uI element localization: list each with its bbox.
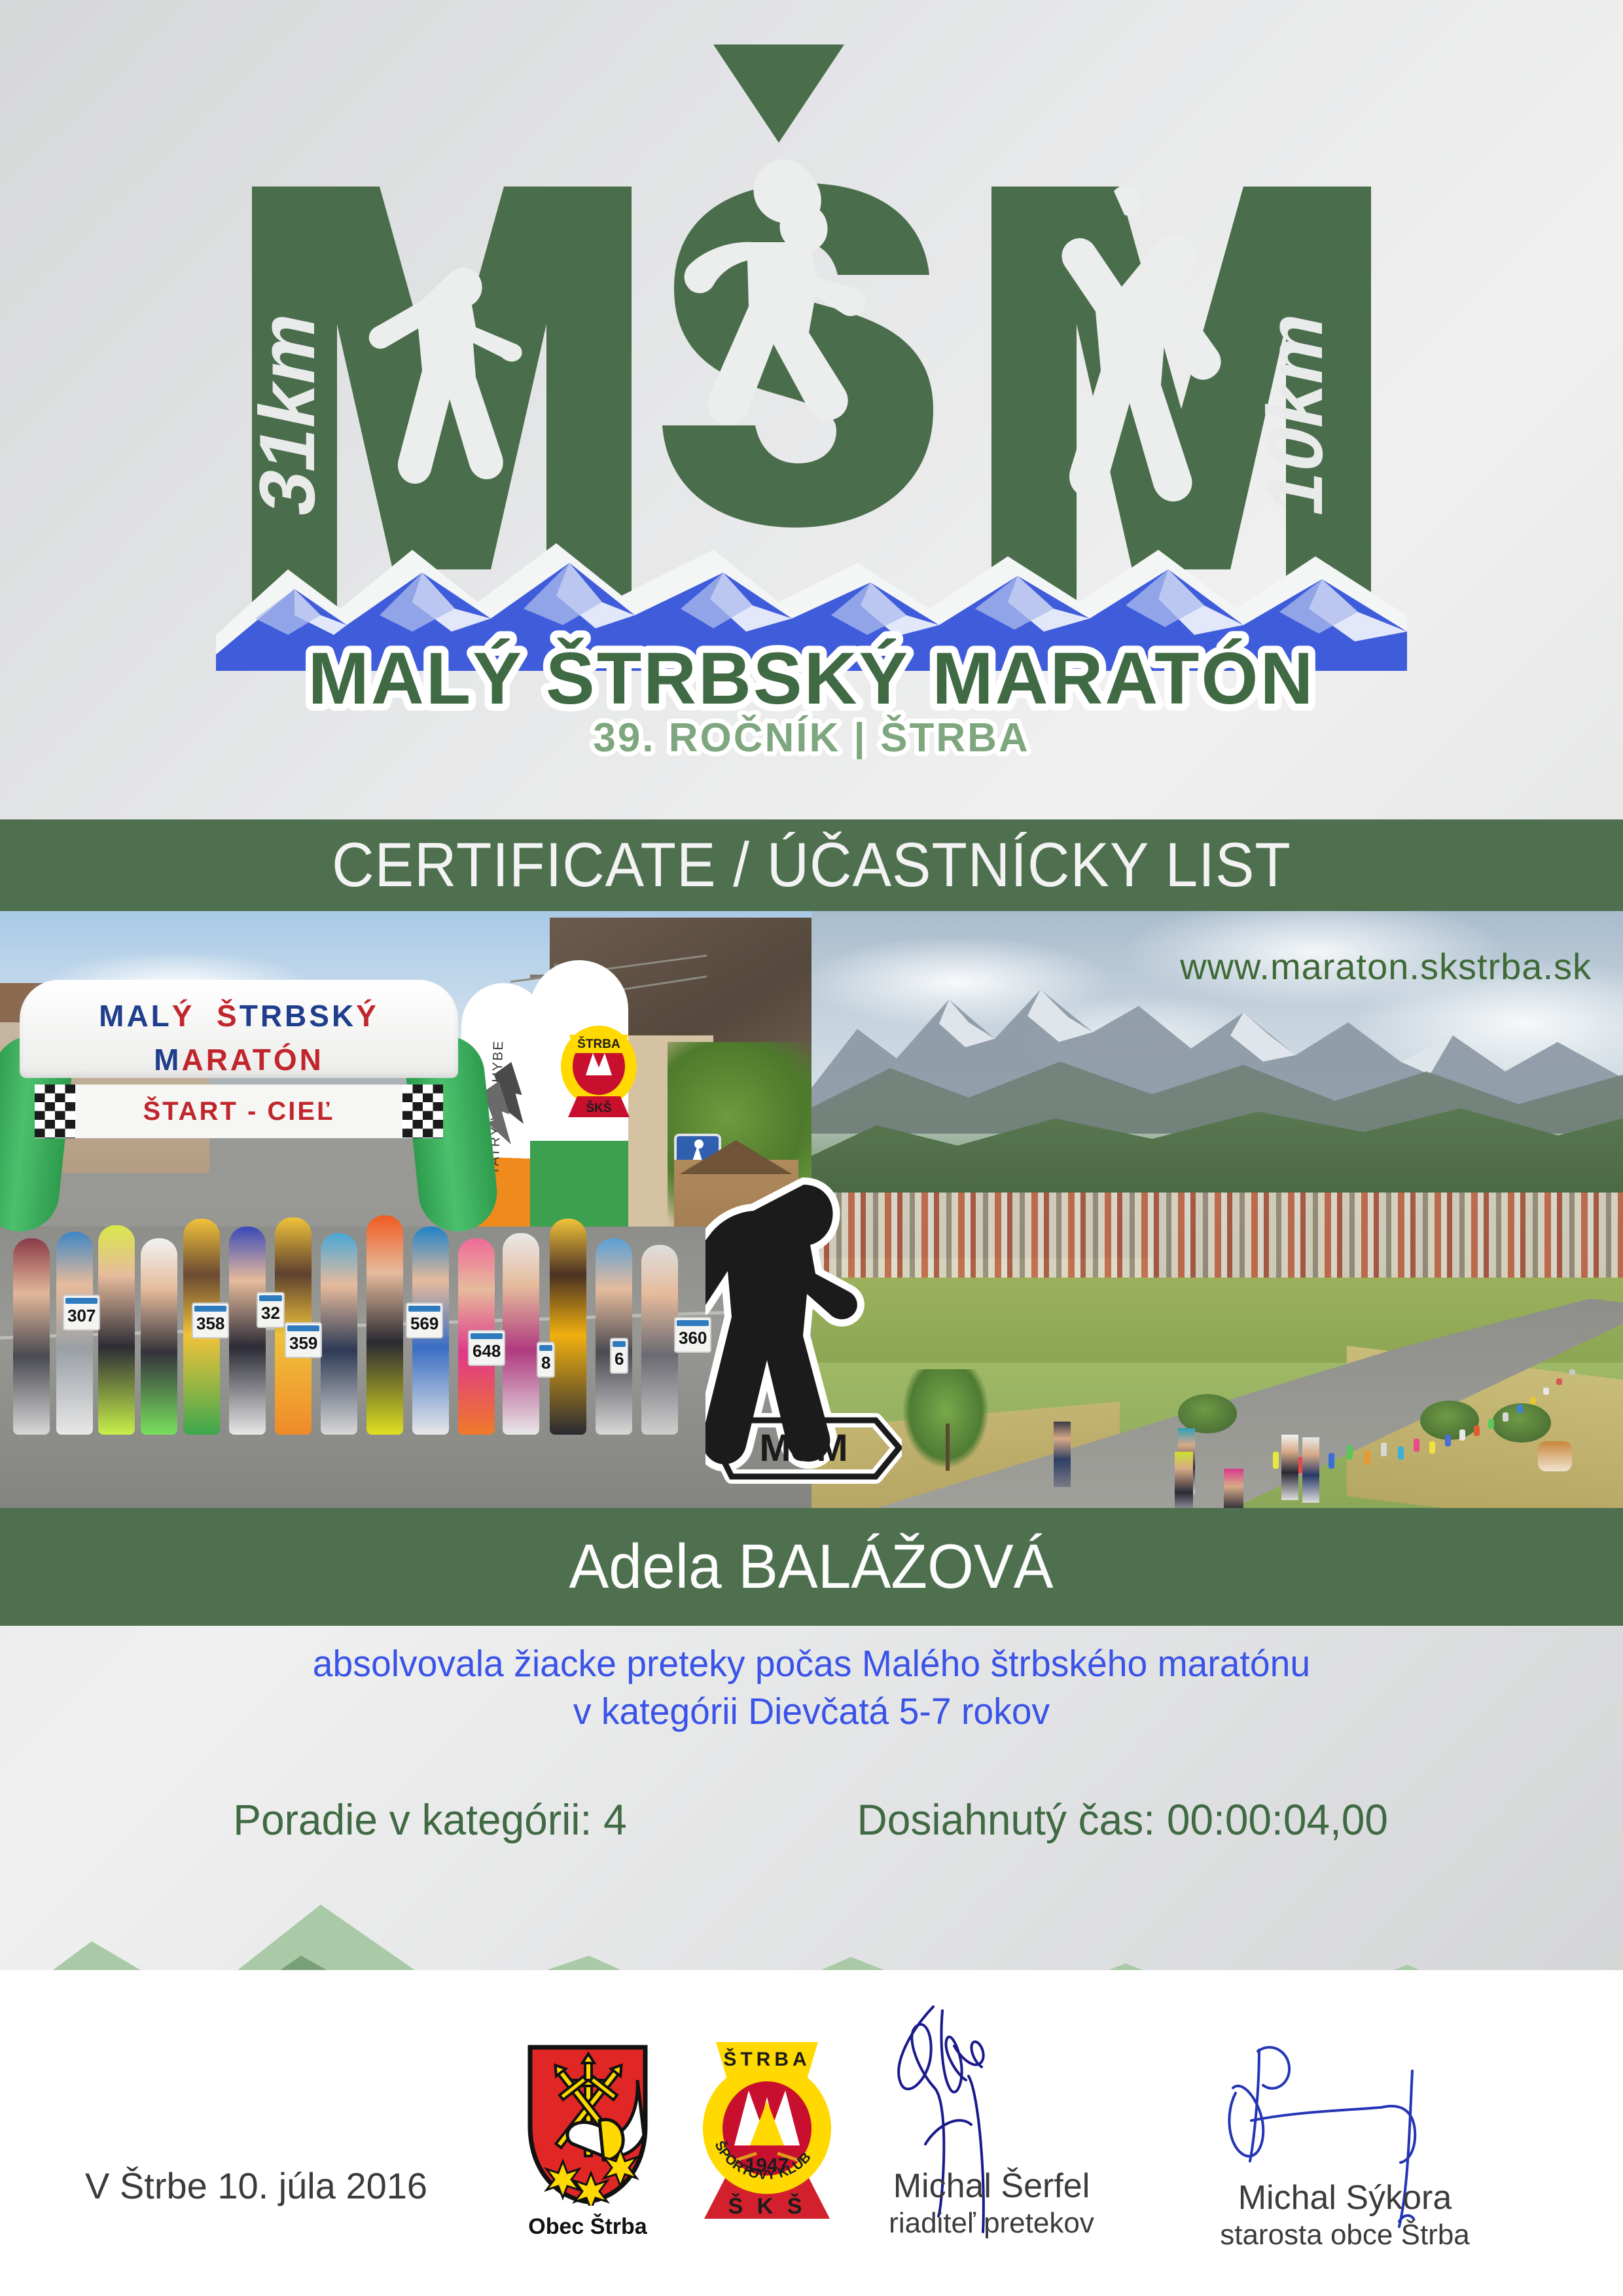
certificate-title: CERTIFICATE / ÚČASTNÍCKY LIST	[332, 829, 1291, 901]
flag-sks: ŠTRBA ŠKŠ	[530, 960, 628, 1261]
certificate-title-band: CERTIFICATE / ÚČASTNÍCKY LIST	[0, 819, 1623, 911]
club-top-text: ŠTRBA	[723, 2048, 810, 2070]
runner	[321, 1233, 357, 1435]
runner	[366, 1215, 403, 1435]
runner	[1302, 1437, 1319, 1503]
footer: V Štrbe 10. júla 2016	[0, 1970, 1623, 2296]
watermark-label: MŠM	[759, 1427, 847, 1469]
bush	[1420, 1401, 1479, 1440]
description-line-1: absolvovala žiacke preteky počas Malého …	[24, 1640, 1599, 1688]
signer-name: Michal Šerfel	[851, 2166, 1132, 2206]
msm-runner-watermark: MŠM	[705, 1158, 902, 1499]
runner	[1224, 1469, 1243, 1508]
bib-number: 648	[468, 1330, 505, 1366]
msm-logo-svg: 31km 10km MALÝ ŠTRBSKÝ MARAT	[216, 26, 1407, 759]
svg-text:31km: 31km	[243, 303, 330, 522]
runner	[1175, 1452, 1193, 1508]
participant-description: absolvovala žiacke preteky počas Malého …	[0, 1640, 1623, 1736]
bib-number: 32	[257, 1292, 285, 1328]
bib-number: 6	[610, 1338, 628, 1374]
finish-time: Dosiahnutý čas: 00:00:04,00	[857, 1795, 1387, 1844]
runner	[13, 1238, 50, 1435]
coat-of-arms-icon	[522, 2042, 653, 2206]
runner	[229, 1227, 266, 1435]
checker-left	[35, 1085, 75, 1138]
arch-title-top: MALÝ ŠTRBSKÝ	[20, 998, 458, 1033]
bib-number: 569	[406, 1302, 443, 1338]
cow	[1538, 1441, 1572, 1471]
club-bottom-text: Š K Š	[728, 2193, 806, 2219]
category-rank: Poradie v kategórii: 4	[233, 1795, 626, 1844]
spectator	[1054, 1422, 1071, 1487]
bib-number: 359	[285, 1322, 322, 1358]
svg-text:10km: 10km	[1251, 303, 1338, 522]
bush	[1178, 1394, 1237, 1433]
sks-club-icon: ŠTRBA 1947 Š K Š ŠPORTOVÝ KLUB	[695, 2036, 839, 2225]
description-line-2: v kategórii Dievčatá 5-7 rokov	[24, 1688, 1599, 1736]
runner	[56, 1232, 93, 1435]
arch-top: MALÝ ŠTRBSKÝ MARATÓN	[20, 980, 458, 1078]
signature-block-2: Michal Sýkora starosta obce Štrba	[1191, 2178, 1499, 2251]
participant-name: Adela BALÁŽOVÁ	[569, 1531, 1054, 1603]
bib-number: 8	[537, 1342, 555, 1378]
inflatable-start-arch: MALÝ ŠTRBSKÝ MARATÓN ŠTART - CIEĽ	[0, 980, 491, 1196]
svg-text:ŠTRBA: ŠTRBA	[577, 1037, 620, 1051]
bib-number: 307	[63, 1295, 100, 1331]
signer-name: Michal Sýkora	[1191, 2178, 1499, 2217]
municipality-caption: Obec Štrba	[509, 2214, 666, 2240]
runner	[596, 1238, 632, 1435]
club-logo: ŠTRBA 1947 Š K Š ŠPORTOVÝ KLUB	[695, 2036, 846, 2229]
signature-block-1: Michal Šerfel riaditeľ pretekov	[851, 2166, 1132, 2240]
certificate-page: 31km 10km MALÝ ŠTRBSKÝ MARAT	[0, 0, 1623, 2296]
checker-right	[402, 1085, 443, 1138]
sks-badge-icon: ŠTRBA ŠKŠ	[550, 1019, 648, 1117]
runner	[550, 1219, 586, 1435]
photo-start-line: TATRY V POHYBE ŠTRBA ŠKŠ	[0, 911, 811, 1508]
runner	[98, 1225, 135, 1435]
runner	[1281, 1435, 1298, 1500]
runner	[641, 1245, 678, 1435]
municipality-logo: Obec Štrba	[509, 2042, 666, 2240]
signer-role: riaditeľ pretekov	[851, 2207, 1132, 2240]
signer-role: starosta obce Štrba	[1191, 2219, 1499, 2251]
runner-crowd: 307 358 32 359 569 648 8 6 360	[0, 1219, 811, 1435]
issue-date: V Štrbe 10. júla 2016	[85, 2164, 427, 2207]
svg-text:ŠKŠ: ŠKŠ	[586, 1101, 611, 1115]
distance-10km: 10km	[1251, 303, 1338, 522]
logo-subtitle: 39. ROČNÍK | ŠTRBA	[593, 715, 1029, 759]
logo-title: MALÝ ŠTRBSKÝ MARATÓN	[308, 637, 1315, 719]
website-url[interactable]: www.maraton.skstrba.sk	[1180, 945, 1592, 988]
participant-name-band: Adela BALÁŽOVÁ	[0, 1508, 1623, 1626]
photo-countryside: www.maraton.skstrba.sk	[811, 911, 1623, 1508]
distance-31km: 31km	[243, 303, 330, 522]
arch-banner-text: ŠTART - CIEĽ	[143, 1097, 334, 1126]
runner	[141, 1238, 177, 1435]
arch-title-bottom: MARATÓN	[20, 1042, 458, 1077]
result-row: Poradie v kategórii: 4 Dosiahnutý čas: 0…	[0, 1795, 1623, 1844]
arch-banner: ŠTART - CIEĽ	[75, 1085, 402, 1138]
event-logo: 31km 10km MALÝ ŠTRBSKÝ MARAT	[0, 26, 1623, 759]
runner	[503, 1233, 539, 1435]
bib-number: 358	[192, 1302, 229, 1338]
lone-tree	[903, 1369, 988, 1467]
